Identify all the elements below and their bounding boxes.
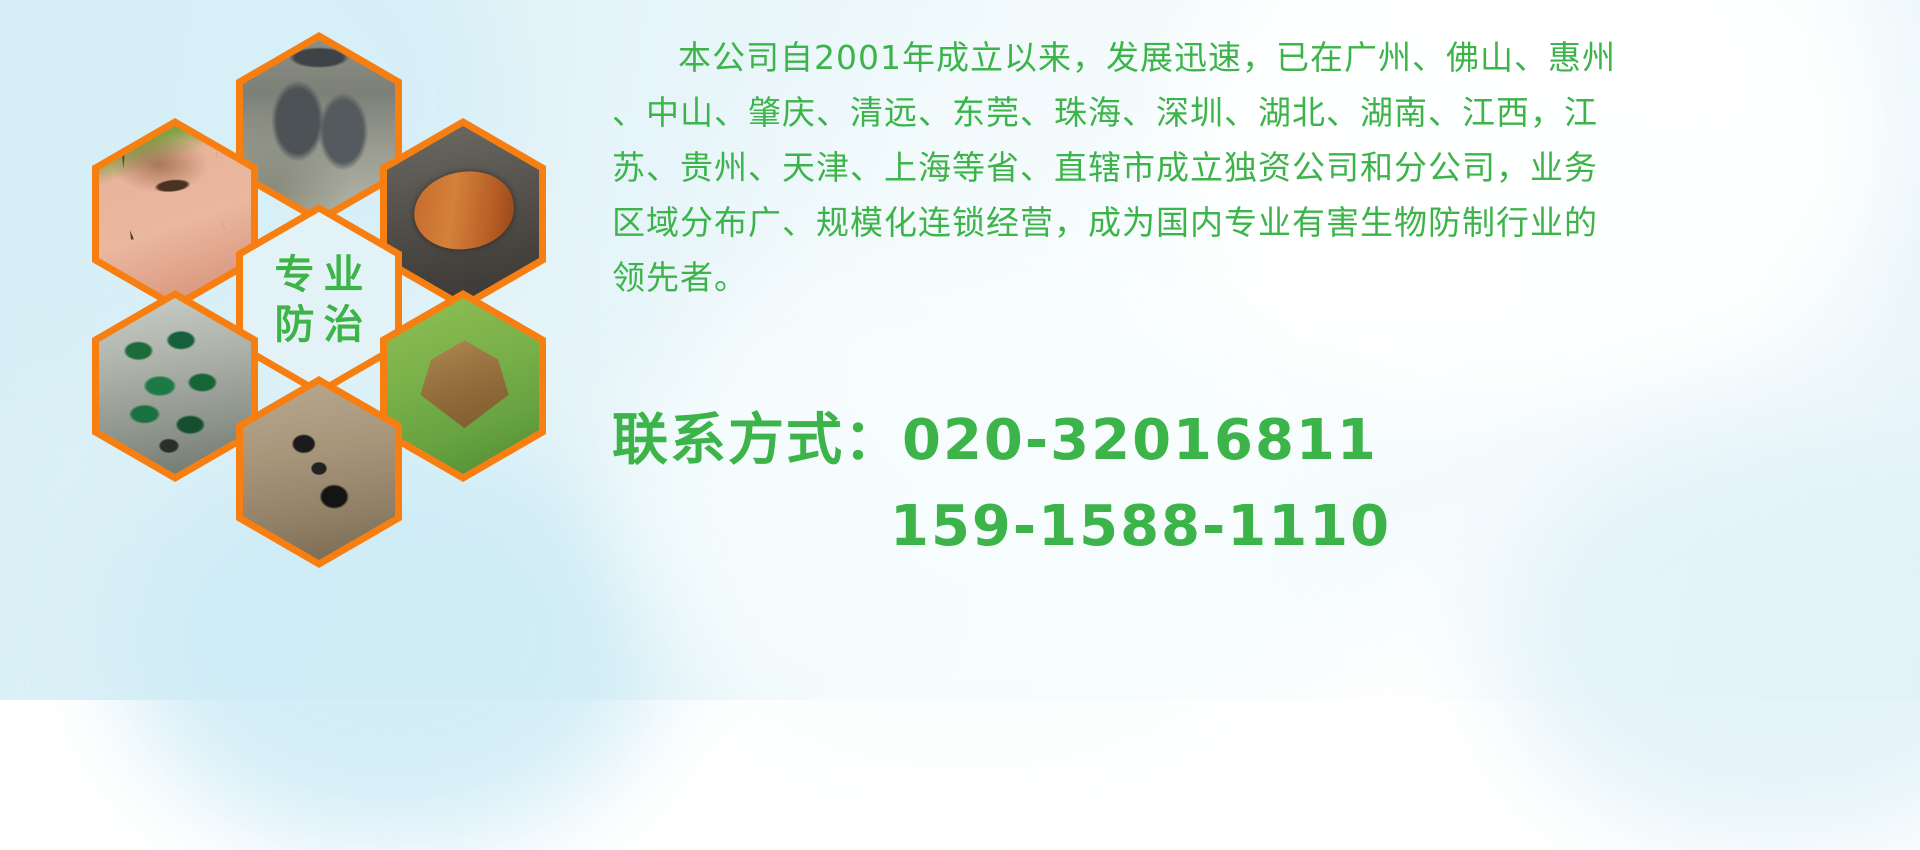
rat-icon	[243, 40, 395, 216]
hexagon-photo-cluster: 专业 防治	[92, 14, 582, 554]
hexagon-photo-mosquito	[92, 118, 258, 310]
intro-line-5: 领先者。	[612, 250, 1912, 305]
intro-paragraph: 本公司自2001年成立以来，发展迅速，已在广州、佛山、惠州 、中山、肇庆、清远、…	[612, 30, 1912, 305]
ant-icon	[243, 384, 395, 560]
company-intro: 本公司自2001年成立以来，发展迅速，已在广州、佛山、惠州 、中山、肇庆、清远、…	[612, 30, 1912, 305]
hexagon-photo-stink-bug	[380, 290, 546, 482]
intro-line-2: 、中山、肇庆、清远、东莞、珠海、深圳、湖北、湖南、江西，江	[612, 85, 1912, 140]
hexagon-photo-fly	[92, 290, 258, 482]
badge-text: 专业 防治	[236, 204, 402, 396]
contact-line-landline[interactable]: 联系方式：020-32016811	[612, 398, 1912, 484]
hexagon-photo-rat	[236, 32, 402, 224]
stink-bug-icon	[387, 298, 539, 474]
badge-line-1: 专业	[266, 255, 373, 295]
intro-line-1: 本公司自2001年成立以来，发展迅速，已在广州、佛山、惠州	[612, 30, 1912, 85]
hexagon-photo-ant	[236, 376, 402, 568]
cockroach-icon	[387, 126, 539, 302]
promo-banner: 专业 防治 本公司自2001年成立以来，发展迅速，已在广州、佛山、惠州 、中山、…	[0, 0, 1920, 700]
contact-line-mobile[interactable]: 159-1588-1110	[612, 484, 1912, 570]
mosquito-icon	[99, 126, 251, 302]
hexagon-photo-cockroach	[380, 118, 546, 310]
intro-line-4: 区域分布广、规模化连锁经营，成为国内专业有害生物防制行业的	[612, 195, 1912, 250]
intro-line-3: 苏、贵州、天津、上海等省、直辖市成立独资公司和分公司，业务	[612, 140, 1912, 195]
contact-block: 联系方式：020-32016811 159-1588-1110	[612, 398, 1912, 570]
fly-icon	[99, 298, 251, 474]
badge-line-2: 防治	[266, 305, 373, 345]
